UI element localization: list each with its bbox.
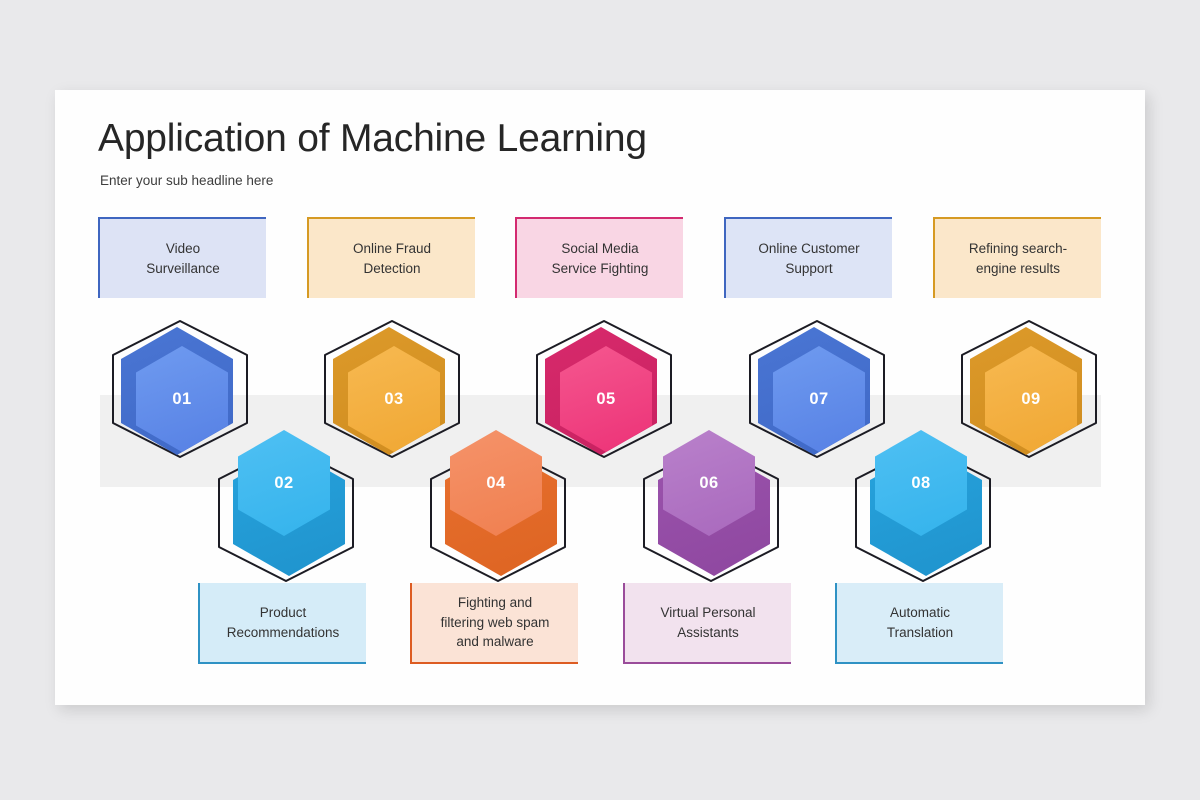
hexagon-number-label: 02 — [274, 474, 293, 493]
bottom-label-text: AutomaticTranslation — [887, 603, 953, 642]
bottom-label-text: ProductRecommendations — [227, 603, 340, 642]
bottom-label-box[interactable]: Virtual PersonalAssistants — [623, 583, 791, 664]
hexagon-number-label: 04 — [486, 474, 505, 493]
top-label-box[interactable]: Refining search-engine results — [933, 217, 1101, 298]
page-title: Application of Machine Learning — [98, 117, 647, 161]
bottom-label-text: Virtual PersonalAssistants — [660, 603, 755, 642]
hexagon-number-label: 03 — [384, 390, 403, 409]
bottom-label-box[interactable]: Fighting andfiltering web spamand malwar… — [410, 583, 578, 664]
hexagon-number-label: 09 — [1021, 390, 1040, 409]
top-label-text: Online FraudDetection — [353, 239, 431, 278]
top-label-text: VideoSurveillance — [146, 239, 220, 278]
page-subtitle: Enter your sub headline here — [100, 173, 273, 188]
bottom-label-text: Fighting andfiltering web spamand malwar… — [441, 593, 550, 652]
hexagon-number-label: 01 — [172, 390, 191, 409]
top-label-box[interactable]: VideoSurveillance — [98, 217, 266, 298]
slide-card: Application of Machine Learning Enter yo… — [55, 90, 1145, 705]
top-label-text: Online CustomerSupport — [758, 239, 859, 278]
top-label-box[interactable]: Online FraudDetection — [307, 217, 475, 298]
top-label-box[interactable]: Social MediaService Fighting — [515, 217, 683, 298]
top-label-text: Refining search-engine results — [969, 239, 1067, 278]
bottom-label-box[interactable]: ProductRecommendations — [198, 583, 366, 664]
top-label-box[interactable]: Online CustomerSupport — [724, 217, 892, 298]
slide-root: Application of Machine Learning Enter yo… — [0, 0, 1200, 800]
hexagon-stack-09[interactable]: 09 — [954, 315, 1104, 490]
hexagon-number-label: 07 — [809, 390, 828, 409]
bottom-label-box[interactable]: AutomaticTranslation — [835, 583, 1003, 664]
top-label-text: Social MediaService Fighting — [552, 239, 649, 278]
hexagon-number-label: 05 — [596, 390, 615, 409]
hexagon-number-label: 08 — [911, 474, 930, 493]
hexagon-number-label: 06 — [699, 474, 718, 493]
